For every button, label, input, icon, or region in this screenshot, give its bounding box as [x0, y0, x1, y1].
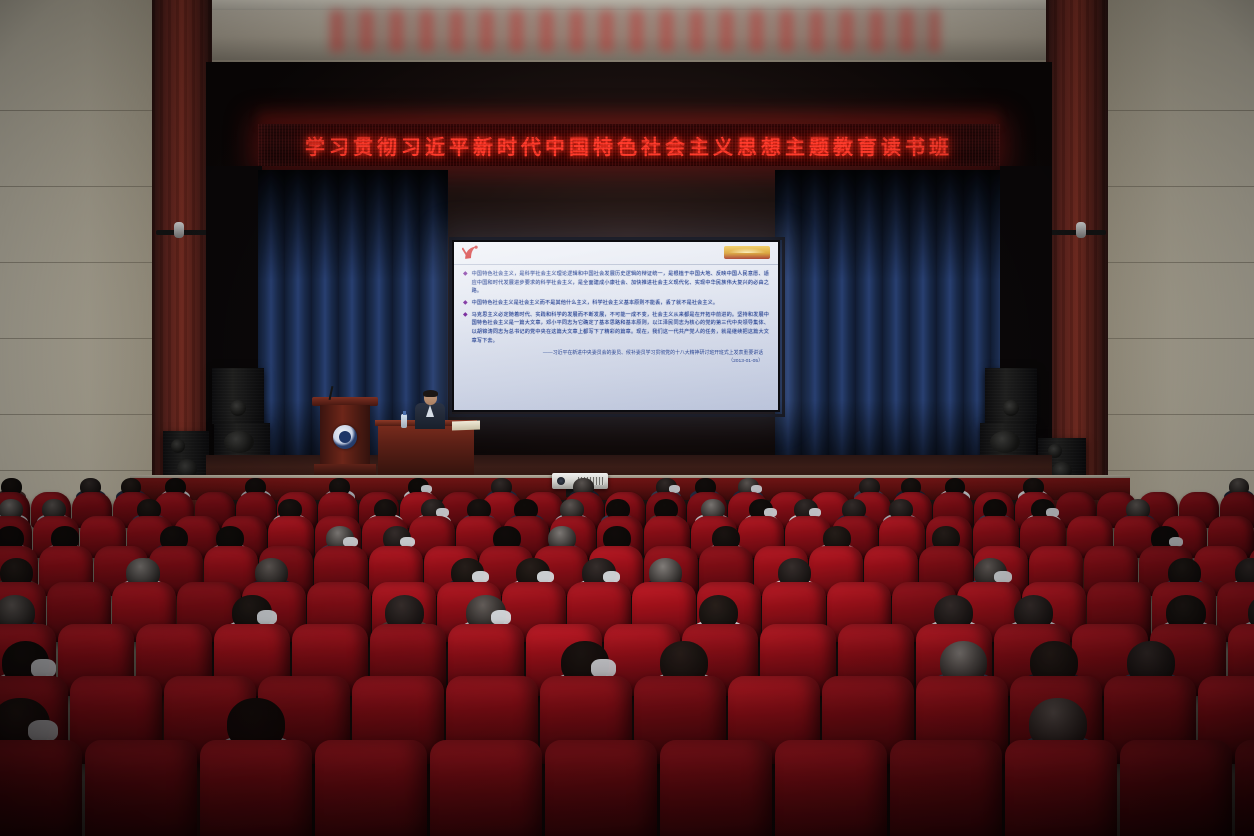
theater-seat[interactable]	[545, 740, 657, 836]
bullet-marker-icon: ◆	[463, 270, 468, 296]
loudspeaker-stack-right	[985, 368, 1037, 424]
led-banner: 学习贯彻习近平新时代中国特色社会主义思想主题教育读书班	[258, 124, 1000, 166]
theater-seat[interactable]	[1005, 740, 1117, 836]
slide-bullet: ◆ 马克思主义必定随着时代、实践和科学的发展而不断发展，不可能一成不变，社会主义…	[463, 311, 769, 345]
slide-bullet: ◆ 中国特色社会主义，是科学社会主义理论逻辑和中国社会发展历史逻辑的辩证统一，是…	[463, 270, 769, 296]
slide-source: ——习近平在新进中央委员会的委员、候补委员学习贯彻党的十八大精神研讨班开班式上发…	[463, 350, 769, 366]
banner-glow	[258, 104, 1000, 126]
theater-seat[interactable]	[0, 740, 82, 836]
bullet-marker-icon: ◆	[463, 311, 468, 345]
national-emblem	[724, 246, 770, 259]
slide-source-date: （2013-01-05）	[463, 358, 763, 366]
face-mask	[28, 720, 58, 742]
slide-bullet: ◆ 中国特色社会主义是社会主义而不是其他什么主义，科学社会主义基本原则不能丢，丢…	[463, 299, 769, 308]
head-table	[378, 424, 474, 480]
loudspeaker-stack-left	[212, 368, 264, 424]
desk-nameplate	[452, 421, 480, 431]
theater-seat[interactable]	[315, 740, 427, 836]
theater-seat[interactable]	[1120, 740, 1232, 836]
theater-seat[interactable]	[660, 740, 772, 836]
face-mask	[591, 659, 616, 677]
water-bottle	[401, 414, 407, 428]
bullet-text: 马克思主义必定随着时代、实践和科学的发展而不断发展，不可能一成不变，社会主义从来…	[472, 311, 769, 345]
projection-screen: ◆ 中国特色社会主义，是科学社会主义理论逻辑和中国社会发展历史逻辑的辩证统一，是…	[452, 240, 780, 412]
bullet-marker-icon: ◆	[463, 299, 468, 308]
hammer-and-sickle-emblem	[462, 245, 480, 261]
bullet-text: 中国特色社会主义是社会主义而不是其他什么主义，科学社会主义基本原则不能丢，丢了就…	[472, 299, 718, 308]
theater-seat[interactable]	[200, 740, 312, 836]
slide-body: ◆ 中国特色社会主义，是科学社会主义理论逻辑和中国社会发展历史逻辑的辩证统一，是…	[454, 265, 778, 366]
projector-lens-icon	[557, 477, 565, 485]
institution-seal	[333, 425, 357, 449]
seated-presenter	[415, 391, 445, 427]
auditorium-scene: 学习贯彻习近平新时代中国特色社会主义思想主题教育读书班 ◆	[0, 0, 1254, 836]
slide-source-line: ——习近平在新进中央委员会的委员、候补委员学习贯彻党的十八大精神研讨班开班式上发…	[463, 350, 763, 358]
theater-seat[interactable]	[85, 740, 197, 836]
theater-seat[interactable]	[775, 740, 887, 836]
stage-curtain-right	[775, 170, 1005, 470]
speaking-lectern	[316, 397, 374, 479]
theater-seat[interactable]	[1235, 740, 1254, 836]
face-mask	[31, 659, 56, 677]
theater-seat[interactable]	[890, 740, 1002, 836]
slide-header	[454, 242, 778, 265]
bullet-text: 中国特色社会主义，是科学社会主义理论逻辑和中国社会发展历史逻辑的辩证统一，是根植…	[472, 270, 769, 296]
ceiling-led-reflection	[330, 10, 940, 52]
theater-seat[interactable]	[430, 740, 542, 836]
